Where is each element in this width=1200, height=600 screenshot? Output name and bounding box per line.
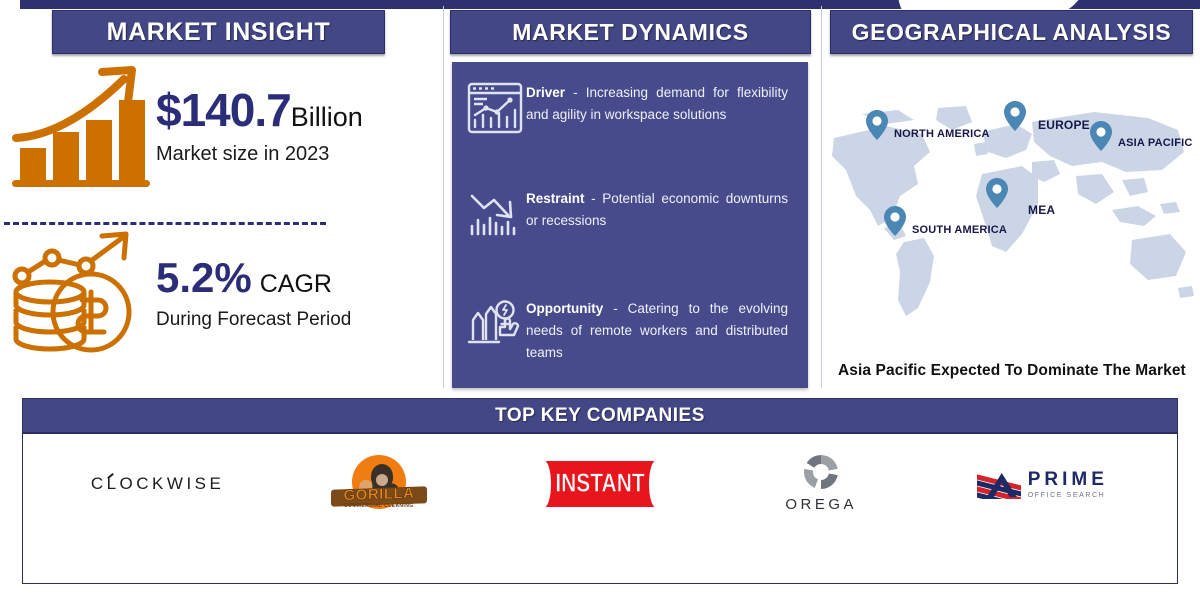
market-size-text: $140.7Billion Market size in 2023: [156, 87, 363, 166]
company-logo-prime[interactable]: PRIME OFFICE SEARCH: [952, 449, 1132, 519]
dynamics-opportunity-dash: -: [613, 301, 618, 316]
companies-header-label: TOP KEY COMPANIES: [495, 405, 705, 427]
prime-office-search-logo: PRIME OFFICE SEARCH: [977, 469, 1108, 499]
company-logo-gorilla[interactable]: GORILLA COMMERCIAL CLEANING: [289, 449, 469, 519]
dynamics-restraint-label: Restraint: [526, 191, 585, 206]
clockwise-logo: CLOCKWISE: [91, 474, 225, 494]
dynamics-driver-body: Increasing demand for flexibility and ag…: [526, 85, 788, 122]
dynamics-driver-dash: -: [573, 85, 578, 100]
banner-market-dynamics: MARKET DYNAMICS: [450, 10, 811, 54]
dynamics-driver-label: Driver: [526, 85, 565, 100]
map-label-south-america: SOUTH AMERICA: [912, 224, 1007, 236]
map-label-asia-pacific: ASIA PACIFIC: [1118, 137, 1193, 149]
map-pin-north-america[interactable]: [866, 110, 888, 145]
instant-logo: INSTANT: [544, 461, 656, 507]
cagr-stat: 5.2%CAGR During Forecast Period: [6, 230, 351, 358]
dynamics-driver-text: Driver - Increasing demand for flexibili…: [526, 78, 788, 140]
analytics-dashboard-icon: [464, 78, 526, 140]
banner-market-dynamics-label: MARKET DYNAMICS: [512, 19, 748, 46]
insight-dashed-divider: [4, 222, 326, 225]
market-dynamics-panel: Driver - Increasing demand for flexibili…: [452, 62, 808, 388]
company-logo-clockwise[interactable]: CLOCKWISE: [68, 449, 248, 519]
company-logo-row: CLOCKWISE GORILLA COMMERCIAL CLEANING: [23, 434, 1177, 534]
banner-market-insight: MARKET INSIGHT: [52, 10, 385, 54]
orega-ring-icon: [804, 455, 838, 489]
infographic-page: MARKET INSIGHT MARKET DYNAMICS GEOGRAPHI…: [0, 0, 1200, 600]
market-size-caption: Market size in 2023: [156, 143, 363, 166]
map-pin-mea[interactable]: [986, 178, 1008, 213]
banner-geographical-analysis: GEOGRAPHICAL ANALYSIS: [830, 10, 1193, 54]
market-size-value-row: $140.7Billion: [156, 87, 363, 133]
gorilla-logo: GORILLA COMMERCIAL CLEANING: [331, 455, 427, 513]
companies-header: TOP KEY COMPANIES: [23, 399, 1177, 434]
market-size-unit: Billion: [291, 102, 363, 132]
growth-arrows-idea-icon: [464, 294, 526, 356]
prime-logo-text: PRIME: [1028, 470, 1108, 489]
dynamics-item-opportunity: Opportunity - Catering to the evolving n…: [464, 294, 798, 364]
column-divider-left: [443, 6, 444, 388]
top-strip-notch: [0, 0, 20, 9]
cagr-unit: CAGR: [260, 270, 332, 298]
market-size-stat: $140.7Billion Market size in 2023: [6, 62, 363, 190]
market-insight-section: $140.7Billion Market size in 2023: [0, 62, 443, 392]
instant-logo-text: INSTANT: [555, 469, 644, 499]
gorilla-logo-tagline: COMMERCIAL CLEANING: [331, 503, 427, 509]
company-logo-orega[interactable]: OREGA: [731, 449, 911, 519]
dynamics-opportunity-text: Opportunity - Catering to the evolving n…: [526, 294, 788, 364]
column-divider-right: [821, 6, 822, 388]
orega-logo: OREGA: [785, 455, 857, 513]
top-key-companies-panel: TOP KEY COMPANIES CLOCKWISE GORILLA: [22, 398, 1178, 584]
orega-logo-text: OREGA: [785, 496, 857, 513]
map-pin-south-america[interactable]: [884, 206, 906, 241]
banner-market-insight-label: MARKET INSIGHT: [107, 18, 331, 47]
prime-logo-text-block: PRIME OFFICE SEARCH: [1028, 470, 1108, 499]
map-label-north-america: NORTH AMERICA: [894, 128, 990, 140]
dynamics-item-driver: Driver - Increasing demand for flexibili…: [464, 78, 798, 140]
map-label-europe: EUROPE: [1038, 118, 1090, 132]
dynamics-restraint-text: Restraint - Potential economic downturns…: [526, 184, 788, 246]
dynamics-opportunity-label: Opportunity: [526, 301, 603, 316]
cagr-text: 5.2%CAGR During Forecast Period: [156, 257, 351, 331]
geographical-analysis-section: NORTH AMERICA EUROPE ASIA PACIFIC: [826, 62, 1200, 392]
map-pin-europe[interactable]: [1004, 101, 1026, 136]
cagr-value-row: 5.2%CAGR: [156, 257, 351, 299]
top-accent-strip: [0, 0, 1200, 9]
banner-geographical-analysis-label: GEOGRAPHICAL ANALYSIS: [852, 19, 1172, 46]
market-size-value: $140.7: [156, 84, 291, 136]
dynamics-item-restraint: Restraint - Potential economic downturns…: [464, 184, 798, 246]
prime-logo-tagline: OFFICE SEARCH: [1028, 492, 1108, 499]
gorilla-face-icon: [376, 474, 388, 486]
coins-growth-icon: [6, 230, 152, 358]
map-label-mea: MEA: [1028, 203, 1055, 217]
gorilla-logo-text: GORILLA: [331, 484, 427, 504]
declining-bar-chart-icon: [464, 184, 526, 246]
top-strip-swoosh: [898, 0, 1093, 9]
geography-caption: Asia Pacific Expected To Dominate The Ma…: [838, 362, 1200, 380]
bar-chart-growth-arrow-icon: [6, 62, 152, 190]
dynamics-restraint-dash: -: [591, 191, 596, 206]
cagr-caption: During Forecast Period: [156, 309, 351, 331]
map-pin-asia-pacific[interactable]: [1090, 121, 1112, 156]
cagr-value: 5.2%: [156, 254, 252, 301]
company-logo-instant[interactable]: INSTANT: [510, 449, 690, 519]
union-jack-chevron-icon: [977, 469, 1021, 499]
world-map: NORTH AMERICA EUROPE ASIA PACIFIC: [826, 100, 1200, 330]
